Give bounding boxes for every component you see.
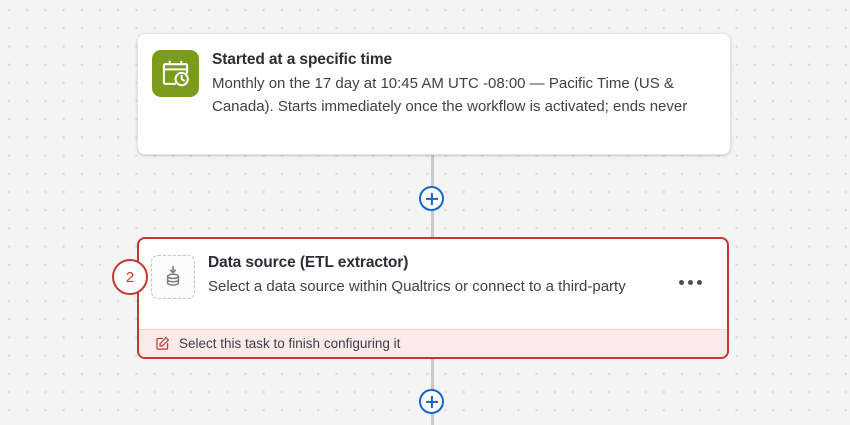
trigger-card-text: Started at a specific time Monthly on th…	[212, 50, 712, 118]
trigger-card-title: Started at a specific time	[212, 50, 712, 71]
trigger-card[interactable]: Started at a specific time Monthly on th…	[137, 33, 731, 155]
edit-square-icon	[155, 336, 170, 351]
add-step-after-task-button[interactable]	[419, 389, 444, 414]
kebab-menu-icon[interactable]	[673, 269, 707, 295]
kebab-dot	[688, 280, 693, 285]
task-error-banner: Select this task to finish configuring i…	[139, 329, 727, 357]
task-card-data-source[interactable]: Data source (ETL extractor) Select a dat…	[137, 237, 729, 359]
add-step-after-trigger-button[interactable]	[419, 186, 444, 211]
kebab-dot	[679, 280, 684, 285]
step-number-badge: 2	[112, 259, 148, 295]
task-card-text: Data source (ETL extractor) Select a dat…	[208, 253, 673, 298]
task-card-title: Data source (ETL extractor)	[208, 253, 673, 274]
task-error-message: Select this task to finish configuring i…	[179, 336, 400, 351]
connector-line-plus-to-task	[431, 207, 434, 237]
database-download-icon	[151, 255, 195, 299]
workflow-canvas: Started at a specific time Monthly on th…	[0, 0, 850, 425]
task-card-description: Select a data source within Qualtrics or…	[208, 275, 638, 298]
kebab-dot	[697, 280, 702, 285]
calendar-clock-icon	[152, 50, 199, 97]
trigger-card-description: Monthly on the 17 day at 10:45 AM UTC -0…	[212, 72, 712, 119]
